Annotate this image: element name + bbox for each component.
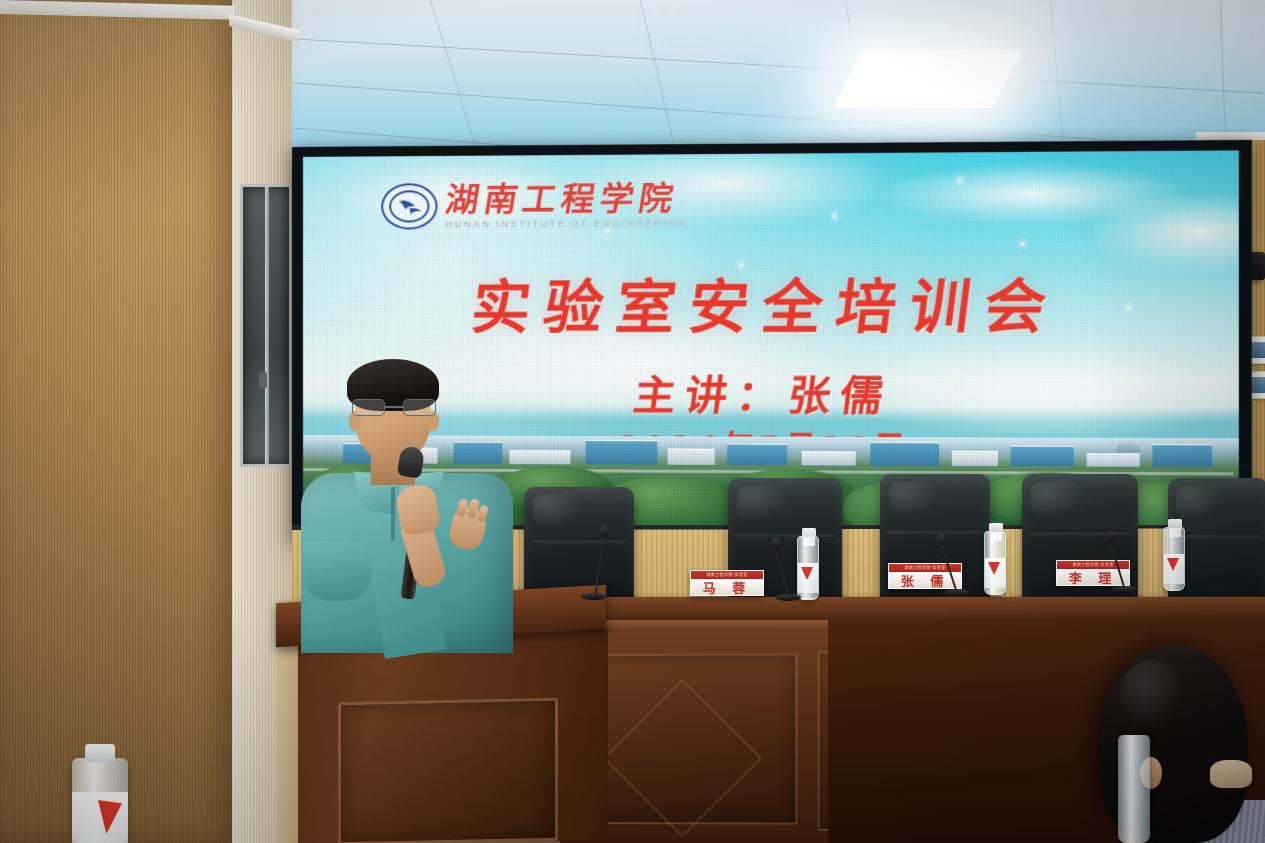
- nameplate: 湖南工程学院·实验室 马 蓉: [690, 570, 764, 596]
- podium-panel: [338, 698, 558, 843]
- microphone-base: [944, 589, 970, 596]
- microphone-base: [1112, 586, 1138, 593]
- institute-logo: 湖南工程学院 HUNAN INSTITUTE OF ENGINEERING: [381, 182, 687, 231]
- microphone-capsule: [1107, 531, 1115, 543]
- water-bottle: [797, 536, 819, 600]
- campus-building: [586, 440, 658, 465]
- eyeglasses-icon: [352, 399, 436, 416]
- attendee-hair-highlight: [1120, 660, 1184, 730]
- campus-building: [802, 451, 856, 466]
- campus-building: [727, 444, 787, 466]
- campus-building: [1011, 446, 1074, 467]
- campus-building: [1087, 453, 1140, 467]
- microphone-capsule: [938, 533, 946, 545]
- slide-title: 实验室安全培训会: [303, 258, 1239, 345]
- cloud: [874, 161, 1190, 226]
- microphone-capsule: [772, 538, 780, 550]
- campus-building: [668, 448, 715, 464]
- campus-building: [1152, 444, 1212, 467]
- water-bottle: [984, 531, 1006, 595]
- nameplate-name: 马 蓉: [691, 579, 763, 595]
- presenter-placket: [391, 487, 395, 541]
- window-latch[interactable]: [259, 372, 267, 388]
- institute-name-cn: 湖南工程学院: [443, 182, 690, 217]
- sparkle: [958, 179, 961, 182]
- emblem-inner-ring: [389, 191, 429, 223]
- attendee-hair-clip: [1210, 760, 1252, 788]
- window-mullion: [265, 187, 269, 464]
- attendee-water-bottle: [1118, 735, 1150, 843]
- ceiling-grid-line: [640, 0, 679, 165]
- ceiling-light-panel: [833, 50, 1023, 108]
- left-wall-panelling: [0, 0, 232, 843]
- conference-room-photo: 湖南工程学院 HUNAN INSTITUTE OF ENGINEERING 实验…: [0, 0, 1265, 843]
- campus-building: [952, 451, 998, 467]
- wing-icon: [397, 199, 423, 217]
- campus-building: [870, 442, 939, 466]
- sparkle: [833, 214, 836, 217]
- foreground-water-bottle: [72, 758, 128, 843]
- sliding-window: [240, 184, 292, 467]
- water-bottle: [1163, 527, 1185, 591]
- campus-dome: [1116, 440, 1139, 452]
- presenter-left-sleeve: [303, 541, 371, 601]
- institute-emblem-icon: [381, 183, 437, 229]
- sparkle: [606, 230, 609, 233]
- sparkle: [1021, 242, 1024, 245]
- logo-text: 湖南工程学院 HUNAN INSTITUTE OF ENGINEERING: [446, 182, 688, 230]
- microphone-capsule: [600, 525, 608, 537]
- presenter: [295, 355, 520, 645]
- institute-name-en: HUNAN INSTITUTE OF ENGINEERING: [446, 218, 688, 230]
